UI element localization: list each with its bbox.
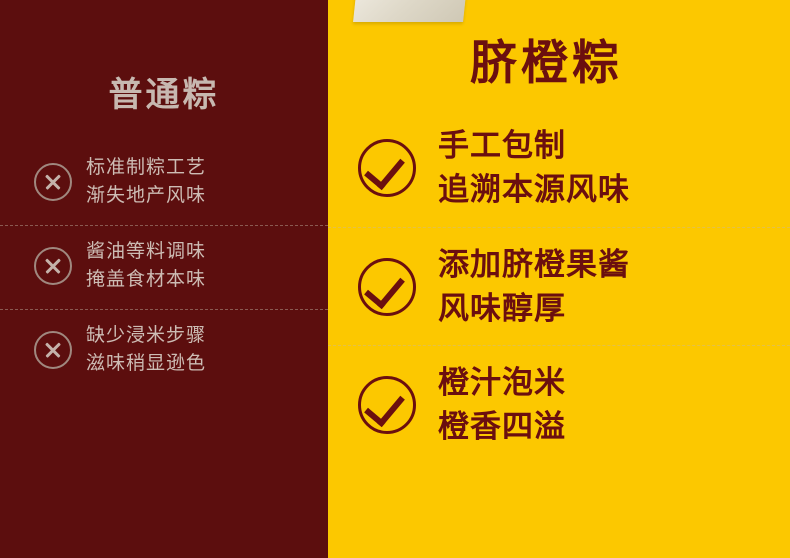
right-item-line1: 橙汁泡米 <box>438 365 566 400</box>
left-item-line1: 标准制粽工艺 <box>86 157 206 178</box>
right-item-text: 手工包制 追溯本源风味 <box>438 124 630 212</box>
check-mark-icon <box>358 376 416 434</box>
left-item-line1: 缺少浸米步骤 <box>86 325 206 346</box>
x-mark-icon <box>34 163 72 201</box>
list-item: 缺少浸米步骤 滋味稍显逊色 <box>0 309 328 389</box>
check-mark-icon <box>358 139 416 197</box>
right-item-line1: 添加脐橙果酱 <box>438 247 630 282</box>
left-item-line2: 掩盖食材本味 <box>86 266 206 294</box>
list-item: 标准制粽工艺 渐失地产风味 <box>0 142 328 221</box>
product-comparison: 普通粽 标准制粽工艺 渐失地产风味 酱油等料调味 掩盖食材本味 缺少浸米步骤 <box>0 0 790 558</box>
left-item-line2: 渐失地产风味 <box>86 182 206 210</box>
x-mark-icon <box>34 247 72 285</box>
right-item-line2: 追溯本源风味 <box>438 168 630 212</box>
right-item-text: 添加脐橙果酱 风味醇厚 <box>438 243 630 331</box>
left-item-line2: 滋味稍显逊色 <box>86 350 206 378</box>
list-item: 手工包制 追溯本源风味 <box>328 109 790 227</box>
navel-orange-zongzi-panel: 脐橙粽 手工包制 追溯本源风味 添加脐橙果酱 风味醇厚 橙汁泡米 <box>328 0 790 558</box>
right-feature-list: 手工包制 追溯本源风味 添加脐橙果酱 风味醇厚 橙汁泡米 橙香四溢 <box>328 109 790 463</box>
left-item-text: 缺少浸米步骤 滋味稍显逊色 <box>86 322 206 377</box>
right-item-line2: 橙香四溢 <box>438 405 566 449</box>
left-item-text: 标准制粽工艺 渐失地产风味 <box>86 154 206 209</box>
list-item: 橙汁泡米 橙香四溢 <box>328 345 790 463</box>
x-mark-icon <box>34 331 72 369</box>
left-item-line1: 酱油等料调味 <box>86 241 206 262</box>
left-item-text: 酱油等料调味 掩盖食材本味 <box>86 238 206 293</box>
ordinary-zongzi-panel: 普通粽 标准制粽工艺 渐失地产风味 酱油等料调味 掩盖食材本味 缺少浸米步骤 <box>0 0 328 558</box>
left-feature-list: 标准制粽工艺 渐失地产风味 酱油等料调味 掩盖食材本味 缺少浸米步骤 滋味稍显逊… <box>0 142 328 389</box>
right-item-line2: 风味醇厚 <box>438 287 630 331</box>
right-item-line1: 手工包制 <box>438 128 566 163</box>
list-item: 酱油等料调味 掩盖食材本味 <box>0 225 328 305</box>
left-panel-title: 普通粽 <box>0 0 328 112</box>
list-item: 添加脐橙果酱 风味醇厚 <box>328 227 790 345</box>
ribbon-decoration <box>353 0 469 22</box>
right-item-text: 橙汁泡米 橙香四溢 <box>438 361 566 449</box>
check-mark-icon <box>358 258 416 316</box>
